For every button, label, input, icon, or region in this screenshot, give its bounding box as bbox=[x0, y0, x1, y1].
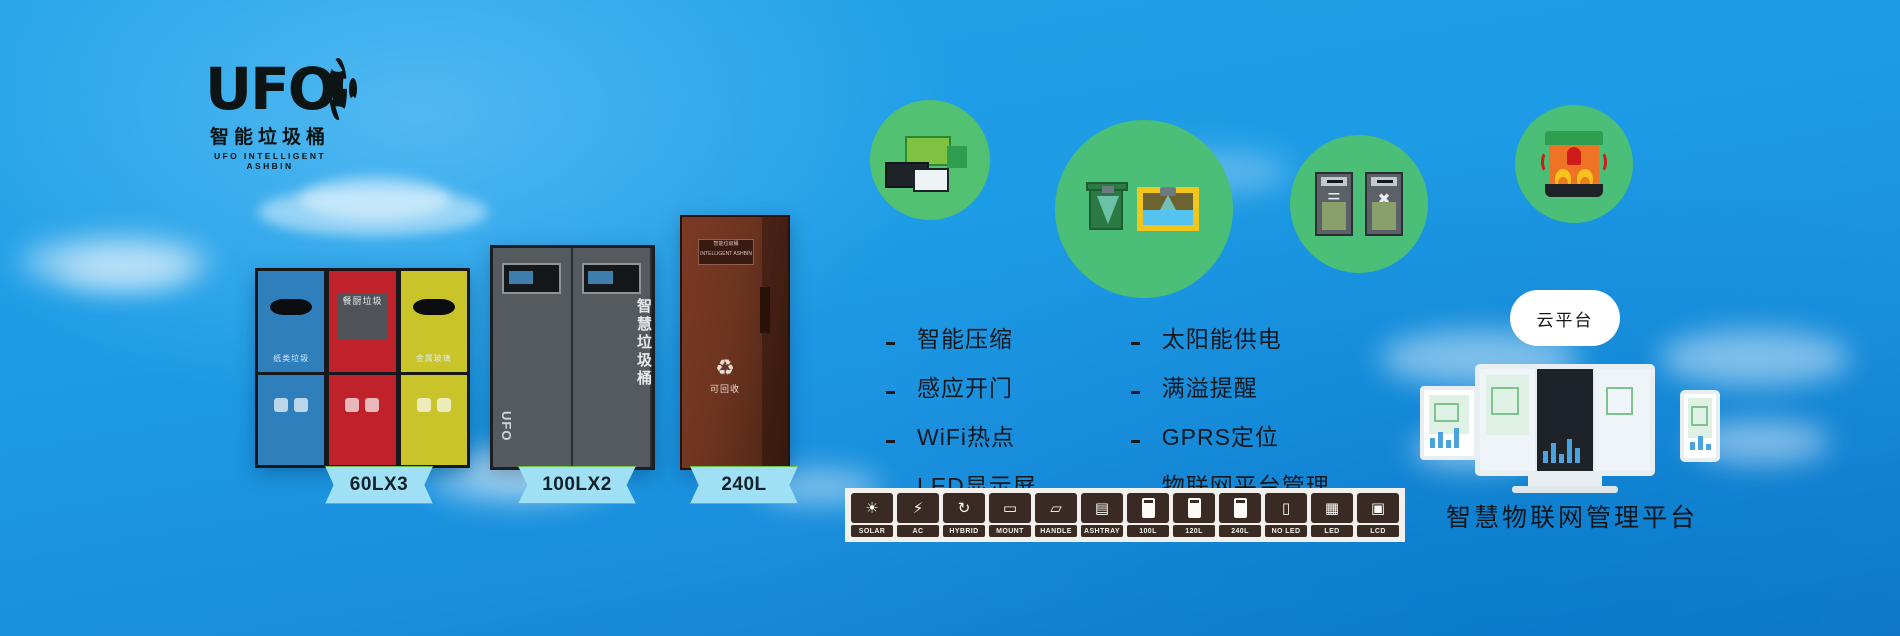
spec-chip-label: 120L bbox=[1173, 525, 1215, 537]
spec-chip-ashtray[interactable]: ▤ASHTRAY bbox=[1081, 493, 1123, 537]
monitor-stand bbox=[1528, 476, 1602, 486]
feature-circle-fleet bbox=[870, 100, 990, 220]
led-icon: ▦ bbox=[1325, 501, 1339, 516]
hybrid-bolt-icon: ↻ bbox=[958, 501, 971, 516]
spec-chip-ac[interactable]: ⚡AC bbox=[897, 493, 939, 537]
feature-label: GPRS定位 bbox=[1162, 418, 1279, 452]
spec-chip-100l[interactable]: 100L bbox=[1127, 493, 1169, 537]
bin-cell-metal-glass: 金属玻璃 bbox=[398, 268, 470, 468]
feature-column-left: 智能压缩 感应开门 WiFi热点 LED显示屏 bbox=[880, 320, 1037, 501]
spec-chip-label: LED bbox=[1311, 525, 1353, 537]
bin-side-text: 智慧垃圾桶 bbox=[633, 298, 654, 388]
spec-chip-label: NO LED bbox=[1265, 525, 1307, 537]
monitor-chart bbox=[1543, 437, 1580, 463]
fill-level-sensor-icon bbox=[1089, 187, 1199, 231]
recycle-icon: ♻ bbox=[702, 357, 748, 379]
bin-window-icon bbox=[582, 263, 641, 294]
monitor-bullet-icon bbox=[1125, 427, 1146, 443]
spec-chip-label: LCD bbox=[1357, 525, 1399, 537]
spec-chip-label: 100L bbox=[1127, 525, 1169, 537]
spec-chip-label: HANDLE bbox=[1035, 525, 1077, 537]
bin-plate-icon: 餐厨垃圾 bbox=[338, 293, 387, 339]
garbage-truck-icon bbox=[891, 132, 969, 188]
monitor-bullet-icon bbox=[880, 427, 901, 443]
feature-item: 太阳能供电 bbox=[1125, 320, 1330, 354]
bin-screen-line1: 智能垃圾桶 bbox=[699, 240, 753, 250]
monitor-bullet-icon bbox=[1125, 329, 1146, 345]
bin-100l-icon bbox=[1142, 498, 1155, 518]
bin-240l-icon bbox=[1234, 498, 1247, 518]
feature-column-right: 太阳能供电 满溢提醒 GPRS定位 物联网平台管理 bbox=[1125, 320, 1330, 501]
spec-chip-label: HYBRID bbox=[943, 525, 985, 537]
product-triple-sorting-bin: 纸类垃圾 餐厨垃圾 金属玻璃 bbox=[255, 268, 470, 468]
spec-chip-solar[interactable]: ☀SOLAR bbox=[851, 493, 893, 537]
feature-item: 智能压缩 bbox=[880, 320, 1037, 354]
bin-slot-icon bbox=[760, 287, 770, 333]
feature-item: 满溢提醒 bbox=[1125, 369, 1330, 403]
tablet-chart bbox=[1430, 422, 1459, 448]
spec-chip-label: SOLAR bbox=[851, 525, 893, 537]
monitor-pane-graph bbox=[1595, 369, 1650, 471]
feature-circle-compaction: ☰ ✖ bbox=[1290, 135, 1428, 273]
spec-chip-lcd[interactable]: ▣LCD bbox=[1357, 493, 1399, 537]
product-single-recycle-bin: 智能垃圾桶 INTELLIGENT ASHBIN ♻ 可回收 bbox=[680, 215, 790, 470]
feature-label: 智能压缩 bbox=[917, 320, 1013, 354]
spec-chip-hybrid[interactable]: ↻HYBRID bbox=[943, 493, 985, 537]
waste-type-icons bbox=[329, 398, 395, 412]
feature-item: WiFi热点 bbox=[880, 418, 1037, 452]
feature-label: 太阳能供电 bbox=[1162, 320, 1282, 354]
no-led-icon: ▯ bbox=[1282, 501, 1290, 516]
spec-chip-label: AC bbox=[897, 525, 939, 537]
monitor-foot bbox=[1512, 486, 1618, 493]
bin-cell-paper: 纸类垃圾 bbox=[255, 268, 326, 468]
bin-brand-mark: UFO bbox=[499, 411, 514, 441]
handle-icon: ▱ bbox=[1050, 501, 1062, 516]
spec-chip-mount[interactable]: ▭MOUNT bbox=[989, 493, 1031, 537]
phone-device-icon bbox=[1680, 390, 1720, 462]
spec-chip-handle[interactable]: ▱HANDLE bbox=[1035, 493, 1077, 537]
platform-title: 智慧物联网管理平台 bbox=[1402, 498, 1742, 534]
feature-circle-fill-level bbox=[1055, 120, 1233, 298]
bin-display-screen: 智能垃圾桶 INTELLIGENT ASHBIN bbox=[698, 239, 754, 265]
recycle-label: 可回收 bbox=[702, 382, 748, 395]
waste-type-icons bbox=[401, 398, 467, 412]
cloud-platform-bubble: 云平台 bbox=[1510, 290, 1620, 346]
iot-platform-illustration: 云平台 智慧物联网管理平台 bbox=[1420, 290, 1720, 520]
bin-120l-icon bbox=[1188, 498, 1201, 518]
spec-icon-strip: ☀SOLAR ⚡AC ↻HYBRID ▭MOUNT ▱HANDLE ▤ASHTR… bbox=[845, 488, 1405, 542]
spec-chip-label: ASHTRAY bbox=[1081, 525, 1123, 537]
feature-label: 满溢提醒 bbox=[1162, 369, 1258, 403]
compaction-mechanism-icon: ☰ ✖ bbox=[1315, 172, 1403, 236]
spec-chip-label: 240L bbox=[1219, 525, 1261, 537]
monitor-bullet-icon bbox=[880, 378, 901, 394]
feature-label: 感应开门 bbox=[917, 369, 1013, 403]
capacity-ribbon-60lx3: 60LX3 bbox=[325, 466, 433, 504]
brand-logo: UFO 智能垃圾桶 UFO INTELLIGENT ASHBIN bbox=[205, 58, 335, 171]
feature-item: 感应开门 bbox=[880, 369, 1037, 403]
capacity-ribbon-240l: 240L bbox=[690, 466, 798, 504]
spec-chip-240l[interactable]: 240L bbox=[1219, 493, 1261, 537]
monitor-pane-dashboard bbox=[1537, 369, 1594, 471]
bin-cell-kitchen: 餐厨垃圾 bbox=[326, 268, 397, 468]
spec-chip-120l[interactable]: 120L bbox=[1173, 493, 1215, 537]
monitor-pane-map bbox=[1480, 369, 1537, 471]
bin-cell-label: 金属玻璃 bbox=[401, 353, 467, 364]
phone-chart bbox=[1690, 424, 1711, 450]
feature-circle-fire-alarm bbox=[1515, 105, 1633, 223]
bin-window-icon bbox=[502, 263, 561, 294]
monitor-bullet-icon bbox=[880, 329, 901, 345]
recycle-badge: ♻ 可回收 bbox=[702, 357, 748, 395]
spec-chip-led[interactable]: ▦LED bbox=[1311, 493, 1353, 537]
bin-side-panel bbox=[762, 217, 788, 468]
spec-chip-label: MOUNT bbox=[989, 525, 1031, 537]
desktop-monitor-icon bbox=[1475, 364, 1655, 476]
ashtray-icon: ▤ bbox=[1095, 501, 1109, 516]
lcd-icon: ▣ bbox=[1371, 501, 1385, 516]
spec-chip-no-led[interactable]: ▯NO LED bbox=[1265, 493, 1307, 537]
logo-chinese-name: 智能垃圾桶 bbox=[205, 122, 335, 149]
bin-cell-label: 餐厨垃圾 bbox=[338, 293, 387, 310]
mount-icon: ▭ bbox=[1003, 501, 1017, 516]
sun-icon: ☀ bbox=[865, 501, 878, 516]
power-plug-icon: ⚡ bbox=[913, 501, 924, 516]
logo-wordmark: UFO bbox=[205, 60, 335, 118]
feature-list: 智能压缩 感应开门 WiFi热点 LED显示屏 太阳能供电 满溢提醒 GPRS定… bbox=[880, 320, 1330, 501]
feature-item: GPRS定位 bbox=[1125, 418, 1330, 452]
waste-type-icons bbox=[258, 398, 324, 412]
fire-alarm-icon bbox=[1543, 131, 1605, 197]
product-double-compactor-bin: 智慧垃圾桶 UFO bbox=[490, 245, 655, 470]
monitor-bullet-icon bbox=[1125, 378, 1146, 394]
capacity-ribbon-100lx2: 100LX2 bbox=[518, 466, 636, 504]
cloud-platform-label: 云平台 bbox=[1537, 306, 1594, 331]
tablet-device-icon bbox=[1420, 386, 1478, 460]
bin-slot-icon bbox=[270, 299, 312, 315]
bin-cell-label: 纸类垃圾 bbox=[258, 353, 324, 364]
feature-label: WiFi热点 bbox=[917, 418, 1015, 452]
bin-screen-line2: INTELLIGENT ASHBIN bbox=[699, 250, 753, 260]
bin-slot-icon bbox=[413, 299, 455, 315]
ufo-ring-icon bbox=[329, 58, 347, 120]
logo-english-name: UFO INTELLIGENT ASHBIN bbox=[205, 151, 335, 171]
